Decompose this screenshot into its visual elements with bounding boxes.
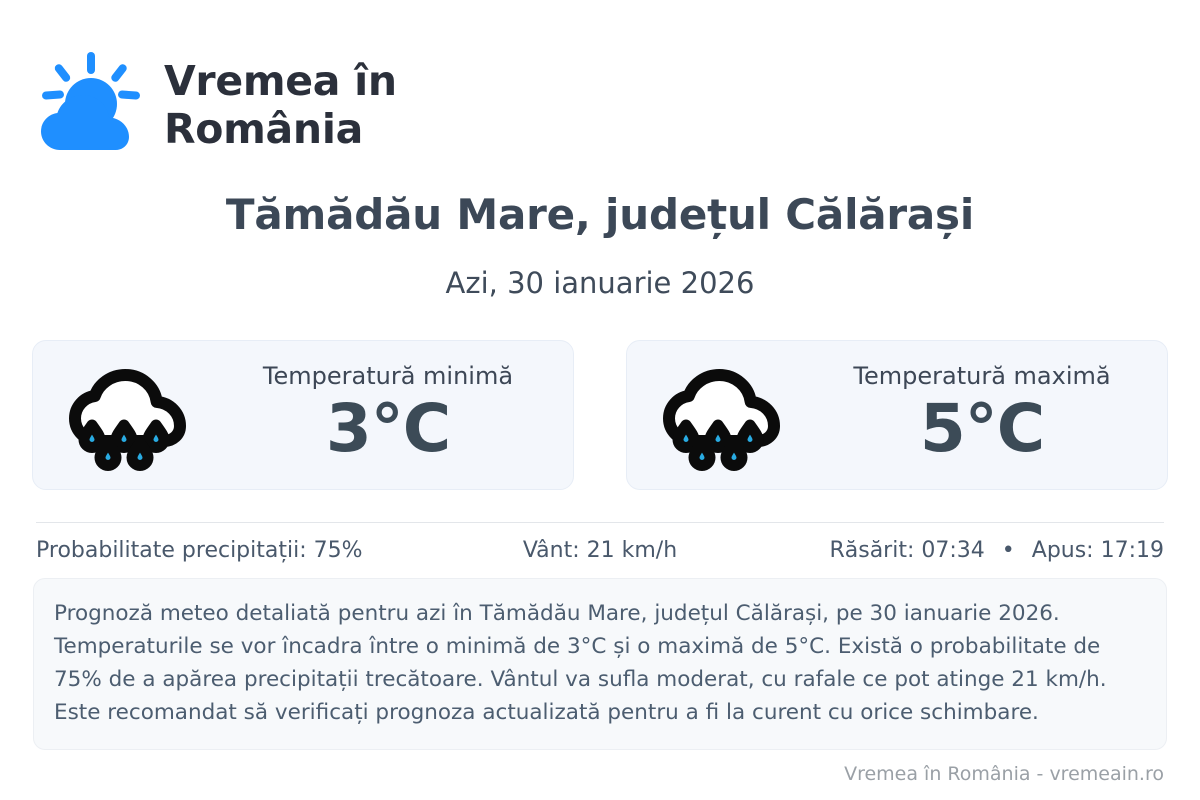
- forecast-description-panel: Prognoză meteo detaliată pentru azi în T…: [33, 578, 1167, 750]
- temperature-min-body: Temperatură minimă 3°C: [209, 362, 567, 468]
- temperature-max-label: Temperatură maximă: [853, 362, 1110, 391]
- page-subtitle: Azi, 30 ianuarie 2026: [0, 266, 1200, 300]
- temperature-cards: Temperatură minimă 3°C Temperatură maxim…: [32, 340, 1168, 490]
- wind-stat: Vânt: 21 km/h: [412, 538, 788, 563]
- precipitation-stat: Probabilitate precipitații: 75%: [36, 538, 412, 563]
- rain-cloud-icon: [67, 359, 187, 471]
- temperature-max-body: Temperatură maximă 5°C: [803, 362, 1161, 468]
- rain-cloud-icon: [661, 359, 781, 471]
- page-title: Tămădău Mare, județul Călărași: [0, 190, 1200, 239]
- weather-stats-row: Probabilitate precipitații: 75% Vânt: 21…: [36, 538, 1164, 563]
- weather-forecast-page: Vremea în România Tămădău Mare, județul …: [0, 0, 1200, 800]
- temperature-max-value: 5°C: [920, 393, 1044, 464]
- sun-times-separator: •: [992, 538, 1025, 563]
- footer-credit: Vremea în România - vremeain.ro: [844, 763, 1164, 785]
- forecast-description-text: Prognoză meteo detaliată pentru azi în T…: [54, 597, 1140, 729]
- temperature-min-label: Temperatură minimă: [263, 362, 513, 391]
- temperature-min-card: Temperatură minimă 3°C: [32, 340, 574, 490]
- temperature-max-card: Temperatură maximă 5°C: [626, 340, 1168, 490]
- sunrise-value: Răsărit: 07:34: [829, 538, 984, 563]
- sun-cloud-icon: [36, 52, 146, 160]
- sunset-value: Apus: 17:19: [1032, 538, 1164, 563]
- stats-divider: [36, 522, 1164, 523]
- temperature-min-value: 3°C: [326, 393, 450, 464]
- sun-times-stat: Răsărit: 07:34 • Apus: 17:19: [788, 538, 1164, 563]
- brand-logo[interactable]: Vremea în România: [36, 52, 397, 160]
- brand-name: Vremea în România: [164, 58, 397, 154]
